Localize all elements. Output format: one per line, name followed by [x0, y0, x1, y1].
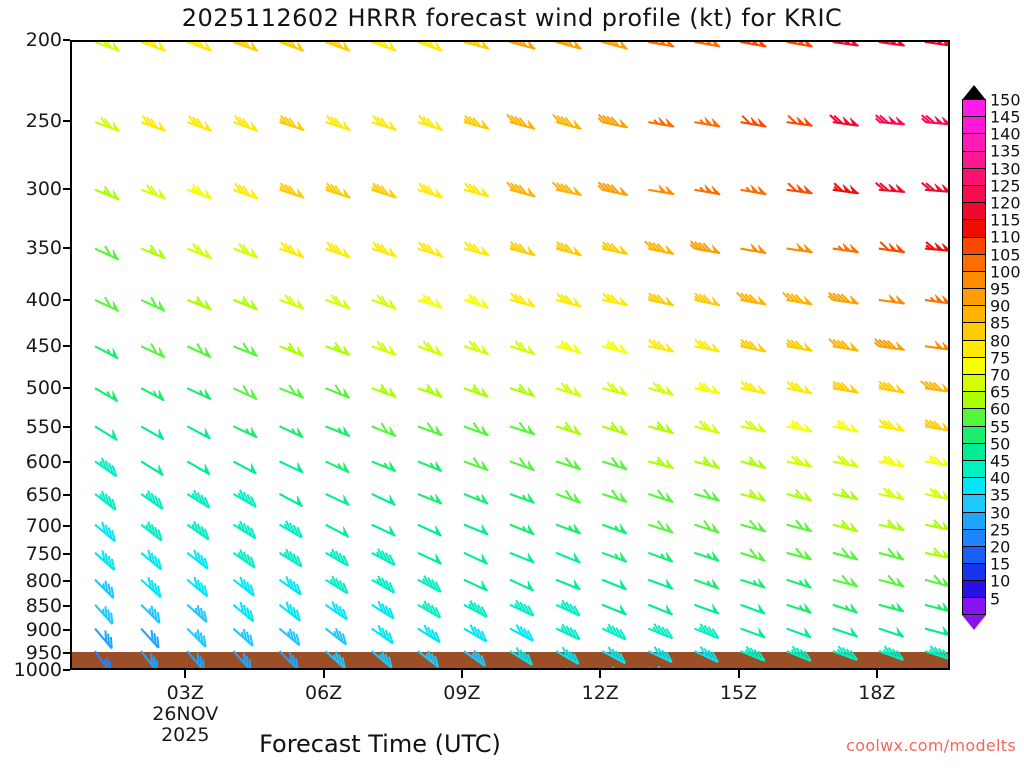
wind-barb [694, 340, 719, 352]
colorbar-label: 120 [990, 194, 1021, 213]
wind-barb [141, 577, 160, 597]
wind-barb [233, 42, 257, 51]
wind-barb [556, 422, 581, 434]
wind-barb [418, 242, 443, 257]
colorbar-label: 30 [990, 503, 1010, 522]
wind-barb [95, 426, 117, 440]
colorbar-cell [962, 322, 986, 339]
colorbar-cell [962, 99, 986, 116]
wind-barb [418, 116, 443, 131]
wind-barb [925, 295, 948, 304]
colorbar-cell [962, 185, 986, 202]
wind-barb [187, 629, 205, 647]
wind-barb [921, 381, 948, 392]
colorbar-cell [962, 391, 986, 408]
y-tick-mark [63, 669, 70, 671]
colorbar-label: 110 [990, 228, 1021, 247]
wind-barb [326, 525, 349, 537]
wind-barb [372, 625, 393, 643]
wind-barb [418, 42, 442, 51]
colorbar-cell [962, 357, 986, 374]
wind-barb [95, 550, 114, 570]
colorbar-cell [962, 443, 986, 460]
wind-barb [829, 339, 858, 351]
y-tick-label: 450 [26, 335, 62, 357]
colorbar-cell [962, 305, 986, 322]
colorbar-label: 135 [990, 142, 1021, 161]
wind-barb [326, 461, 350, 472]
colorbar-cell [962, 271, 986, 288]
wind-barb [279, 576, 300, 594]
wind-barb [141, 491, 162, 509]
wind-barb [741, 579, 766, 588]
wind-barb [602, 580, 626, 590]
wind-barb [464, 580, 488, 591]
colorbar-label: 50 [990, 434, 1010, 453]
wind-barb [279, 295, 303, 309]
wind-barb [372, 576, 395, 593]
wind-barb [599, 42, 628, 49]
wind-barb [464, 242, 489, 255]
wind-barb [279, 494, 302, 506]
wind-barb [694, 382, 719, 393]
wind-barb [648, 552, 672, 561]
wind-barb [787, 548, 812, 559]
wind-barb [648, 117, 674, 126]
wind-barb [464, 458, 488, 470]
wind-barb [233, 116, 257, 131]
wind-barb [925, 341, 948, 350]
y-tick-mark [63, 553, 70, 555]
y-tick-mark [63, 387, 70, 389]
wind-barb [187, 42, 211, 51]
colorbar-label: 20 [990, 538, 1010, 557]
wind-barb [648, 579, 672, 588]
colorbar-cell [962, 133, 986, 150]
wind-barb [326, 576, 348, 593]
wind-barb [741, 628, 765, 637]
wind-barb [694, 490, 719, 501]
x-axis: 03Z06Z09Z12Z15Z18Z26NOV2025 [70, 670, 950, 730]
wind-barb [95, 297, 119, 311]
wind-barb [648, 490, 673, 502]
wind-barb [326, 116, 351, 131]
wind-barb [694, 604, 718, 613]
y-tick-label: 600 [26, 451, 62, 473]
wind-barb [141, 297, 165, 311]
y-tick-mark [63, 345, 70, 347]
wind-barb [326, 183, 351, 198]
colorbar-label: 25 [990, 520, 1010, 539]
x-tick-label: 18Z [858, 682, 895, 704]
wind-barb [233, 426, 257, 437]
wind-barb [648, 293, 673, 305]
colorbar-cell [962, 254, 986, 271]
y-tick-mark [63, 580, 70, 582]
wind-barb [787, 183, 813, 193]
wind-barb [741, 340, 766, 352]
wind-barb [598, 182, 627, 195]
wind-barb [694, 42, 720, 47]
wind-barb [833, 456, 858, 467]
wind-barb [233, 549, 254, 567]
wind-barb [602, 422, 627, 434]
wind-barb [833, 520, 858, 531]
colorbar-cell [962, 512, 986, 529]
wind-barb [279, 549, 301, 566]
colorbar-label: 65 [990, 383, 1010, 402]
wind-barb [829, 293, 859, 304]
wind-barb [737, 292, 766, 304]
wind-barb [879, 242, 905, 252]
colorbar-label: 125 [990, 176, 1021, 195]
colorbar-label: 15 [990, 555, 1010, 574]
wind-barb [279, 461, 303, 472]
wind-barb [326, 242, 350, 257]
wind-barb [925, 603, 948, 612]
wind-barb [879, 520, 904, 530]
wind-barb [648, 605, 672, 615]
wind-barb [233, 343, 257, 356]
wind-barb [787, 490, 812, 501]
y-tick-label: 900 [26, 619, 62, 641]
colorbar-label: 55 [990, 417, 1010, 436]
wind-barb [418, 341, 442, 355]
x-tick-label: 15Z [720, 682, 757, 704]
wind-barb [556, 553, 580, 563]
wind-barb [95, 346, 118, 358]
colorbar-label: 95 [990, 280, 1010, 299]
wind-barb [233, 297, 257, 310]
wind-barb [690, 241, 720, 253]
wind-barb [925, 242, 948, 251]
colorbar-label: 100 [990, 262, 1021, 281]
wind-barb [418, 576, 441, 592]
y-tick-label: 550 [26, 416, 62, 438]
colorbar-cell [962, 580, 986, 597]
colorbar-label: 45 [990, 452, 1010, 471]
wind-barb [879, 295, 905, 304]
wind-barb [879, 575, 904, 586]
wind-barb [602, 552, 626, 561]
wind-barb [510, 600, 534, 615]
wind-barb [833, 183, 859, 193]
x-tick-mark [876, 670, 878, 678]
wind-barb [141, 605, 159, 623]
plot-area [70, 40, 950, 670]
wind-barb [694, 624, 718, 639]
wind-barb [553, 114, 581, 129]
y-tick-label: 350 [26, 237, 62, 259]
y-tick-mark [63, 247, 70, 249]
wind-barb [187, 521, 208, 539]
wind-barb [741, 185, 767, 194]
wind-barb [95, 117, 119, 131]
wind-barb [418, 385, 442, 397]
wind-barb [464, 341, 489, 354]
wind-barb [694, 457, 719, 468]
wind-barb [372, 341, 396, 355]
wind-barb [279, 183, 304, 198]
wind-barb [830, 42, 859, 46]
x-tick-mark [599, 670, 601, 678]
wind-barb [833, 627, 858, 636]
y-tick-mark [63, 629, 70, 631]
wind-barb [326, 426, 350, 436]
wind-barb [510, 580, 534, 591]
colorbar-cell [962, 494, 986, 511]
wind-barb [95, 522, 115, 541]
colorbar-cell [962, 168, 986, 185]
y-tick-label: 850 [26, 595, 62, 617]
wind-barb [141, 461, 163, 475]
wind-barb [879, 420, 905, 431]
wind-barb [95, 186, 119, 199]
y-tick-label: 700 [26, 515, 62, 537]
watermark: coolwx.com/modelts [846, 736, 1016, 755]
wind-barb [464, 295, 489, 308]
wind-barb [279, 242, 303, 257]
wind-barb [279, 629, 299, 646]
wind-barb [418, 553, 442, 564]
wind-barb [694, 579, 718, 588]
colorbar-over-arrow [962, 85, 986, 100]
wind-barb [925, 488, 948, 499]
colorbar-cell [962, 116, 986, 133]
wind-barb [833, 421, 858, 432]
x-tick-label: 06Z [305, 682, 342, 704]
y-tick-mark [63, 39, 70, 41]
wind-barb [741, 42, 767, 47]
wind-barb [648, 521, 673, 533]
colorbar-label: 140 [990, 125, 1021, 144]
wind-barb [833, 381, 859, 392]
wind-barb [876, 183, 905, 192]
wind-barb [95, 246, 119, 260]
wind-barb [879, 548, 904, 559]
wind-barb [187, 490, 209, 507]
wind-barb [372, 385, 396, 397]
wind-barb [510, 341, 535, 354]
wind-barb [648, 422, 673, 433]
colorbar-label: 115 [990, 211, 1021, 230]
wind-barb [233, 490, 256, 507]
wind-barb [602, 383, 627, 395]
wind-barb [648, 457, 673, 468]
wind-barb [925, 575, 948, 586]
wind-barb [279, 385, 303, 398]
wind-barb [372, 242, 397, 257]
wind-barb [556, 242, 581, 255]
wind-barb [602, 457, 627, 469]
wind-barb [141, 116, 165, 131]
wind-barb [876, 115, 905, 124]
wind-barb [464, 115, 489, 128]
wind-barb [418, 494, 442, 504]
wind-barb [556, 580, 580, 590]
wind-barb [187, 605, 206, 622]
wind-barb [602, 524, 626, 533]
x-tick-mark [323, 670, 325, 678]
wind-barb [326, 343, 350, 356]
x-axis-title: Forecast Time (UTC) [0, 730, 760, 758]
wind-barb [187, 297, 211, 310]
wind-barb [187, 185, 211, 199]
wind-barb [830, 115, 859, 126]
wind-barb [553, 182, 582, 195]
y-tick-mark [63, 652, 70, 654]
wind-barb [922, 183, 948, 192]
wind-barb [418, 295, 443, 308]
wind-barb [141, 42, 165, 51]
colorbar-label: 130 [990, 159, 1021, 178]
wind-barb [510, 384, 535, 396]
wind-barb [464, 385, 488, 397]
wind-barb [741, 604, 765, 613]
wind-barb [787, 456, 812, 467]
wind-barb [787, 340, 813, 351]
wind-barb [787, 243, 813, 252]
wind-barb [326, 385, 350, 398]
colorbar-cell [962, 374, 986, 391]
wind-barb [326, 601, 347, 619]
wind-barb [418, 601, 441, 618]
wind-barb [694, 117, 720, 126]
wind-barb [95, 605, 112, 624]
wind-barb [648, 42, 674, 47]
colorbar-cells [962, 99, 986, 615]
wind-barb [925, 548, 948, 558]
wind-barb [187, 461, 210, 474]
wind-barb [787, 628, 811, 637]
wind-barb [464, 601, 487, 617]
wind-barb [925, 520, 948, 530]
wind-barb [694, 521, 719, 533]
wind-barb [507, 182, 535, 197]
wind-barb [141, 185, 165, 199]
wind-barb [279, 521, 302, 538]
wind-barb [556, 624, 580, 639]
wind-barb [141, 522, 161, 541]
wind-barb [602, 490, 627, 502]
y-tick-label: 300 [26, 178, 62, 200]
colorbar-label: 60 [990, 400, 1010, 419]
page-title: 2025112602 HRRR forecast wind profile (k… [0, 4, 1024, 32]
y-tick-mark [63, 494, 70, 496]
colorbar-cell [962, 340, 986, 357]
wind-barb [510, 493, 534, 502]
y-tick-mark [63, 605, 70, 607]
wind-barb [187, 244, 211, 259]
wind-barb [787, 116, 813, 126]
wind-barb [279, 426, 303, 437]
wind-barb [464, 525, 488, 535]
wind-barb [787, 421, 812, 432]
wind-barb [552, 42, 581, 49]
wind-barb [95, 629, 112, 649]
colorbar-label: 85 [990, 314, 1010, 333]
wind-barb [648, 624, 672, 639]
wind-barb [326, 494, 350, 505]
wind-barb [326, 295, 350, 309]
wind-barb [233, 461, 256, 473]
wind-barb [95, 491, 115, 510]
wind-barb [833, 489, 858, 499]
wind-barb [925, 626, 948, 635]
wind-barb [741, 244, 767, 253]
wind-barb [464, 183, 489, 196]
wind-barb [879, 488, 904, 499]
colorbar-cell [962, 408, 986, 425]
wind-barb [326, 42, 350, 51]
wind-barb [418, 625, 440, 642]
y-tick-label: 200 [26, 29, 62, 51]
y-tick-label: 1000 [14, 659, 62, 681]
wind-barb [95, 580, 113, 598]
wind-barb [879, 627, 904, 636]
wind-barb [187, 577, 207, 596]
wind-barb [602, 605, 626, 615]
y-tick-label: 500 [26, 377, 62, 399]
wind-barb [598, 115, 627, 128]
wind-barb [372, 461, 396, 471]
x-tick-label: 09Z [443, 682, 480, 704]
y-tick-label: 800 [26, 570, 62, 592]
wind-barb [694, 185, 720, 194]
colorbar-label: 35 [990, 486, 1010, 505]
wind-barb [279, 42, 303, 51]
wind-barb [556, 341, 581, 353]
wind-barb [602, 624, 626, 639]
wind-barb [602, 341, 627, 353]
wind-barb [602, 293, 627, 305]
wind-barb [741, 381, 766, 393]
colorbar: 1501451401351301251201151101051009590858… [962, 85, 1024, 645]
wind-barb [556, 383, 581, 396]
y-tick-label: 750 [26, 543, 62, 565]
colorbar-cell [962, 460, 986, 477]
y-tick-mark [63, 426, 70, 428]
wind-barb [648, 383, 673, 395]
y-tick-label: 650 [26, 484, 62, 506]
wind-barb [233, 521, 255, 538]
wind-barb [233, 602, 253, 621]
wind-barb [833, 604, 858, 613]
wind-barb [141, 343, 165, 357]
wind-barb [922, 115, 948, 124]
wind-barb [875, 339, 905, 350]
wind-barb [833, 243, 859, 252]
terrain-band [72, 652, 948, 668]
wind-barb [510, 525, 534, 535]
wind-barb [279, 602, 299, 621]
wind-barb [787, 381, 812, 393]
colorbar-label: 80 [990, 331, 1010, 350]
wind-barb [925, 455, 948, 465]
colorbar-label: 75 [990, 348, 1010, 367]
wind-barb [787, 520, 812, 531]
colorbar-label: 105 [990, 245, 1021, 264]
colorbar-cell [962, 426, 986, 443]
wind-barb [741, 490, 766, 501]
wind-barb [141, 426, 164, 439]
y-tick-mark [63, 461, 70, 463]
wind-barb [556, 600, 580, 615]
wind-barb [648, 185, 674, 194]
wind-barb [510, 458, 534, 470]
wind-barb [464, 553, 488, 564]
colorbar-label: 70 [990, 366, 1010, 385]
